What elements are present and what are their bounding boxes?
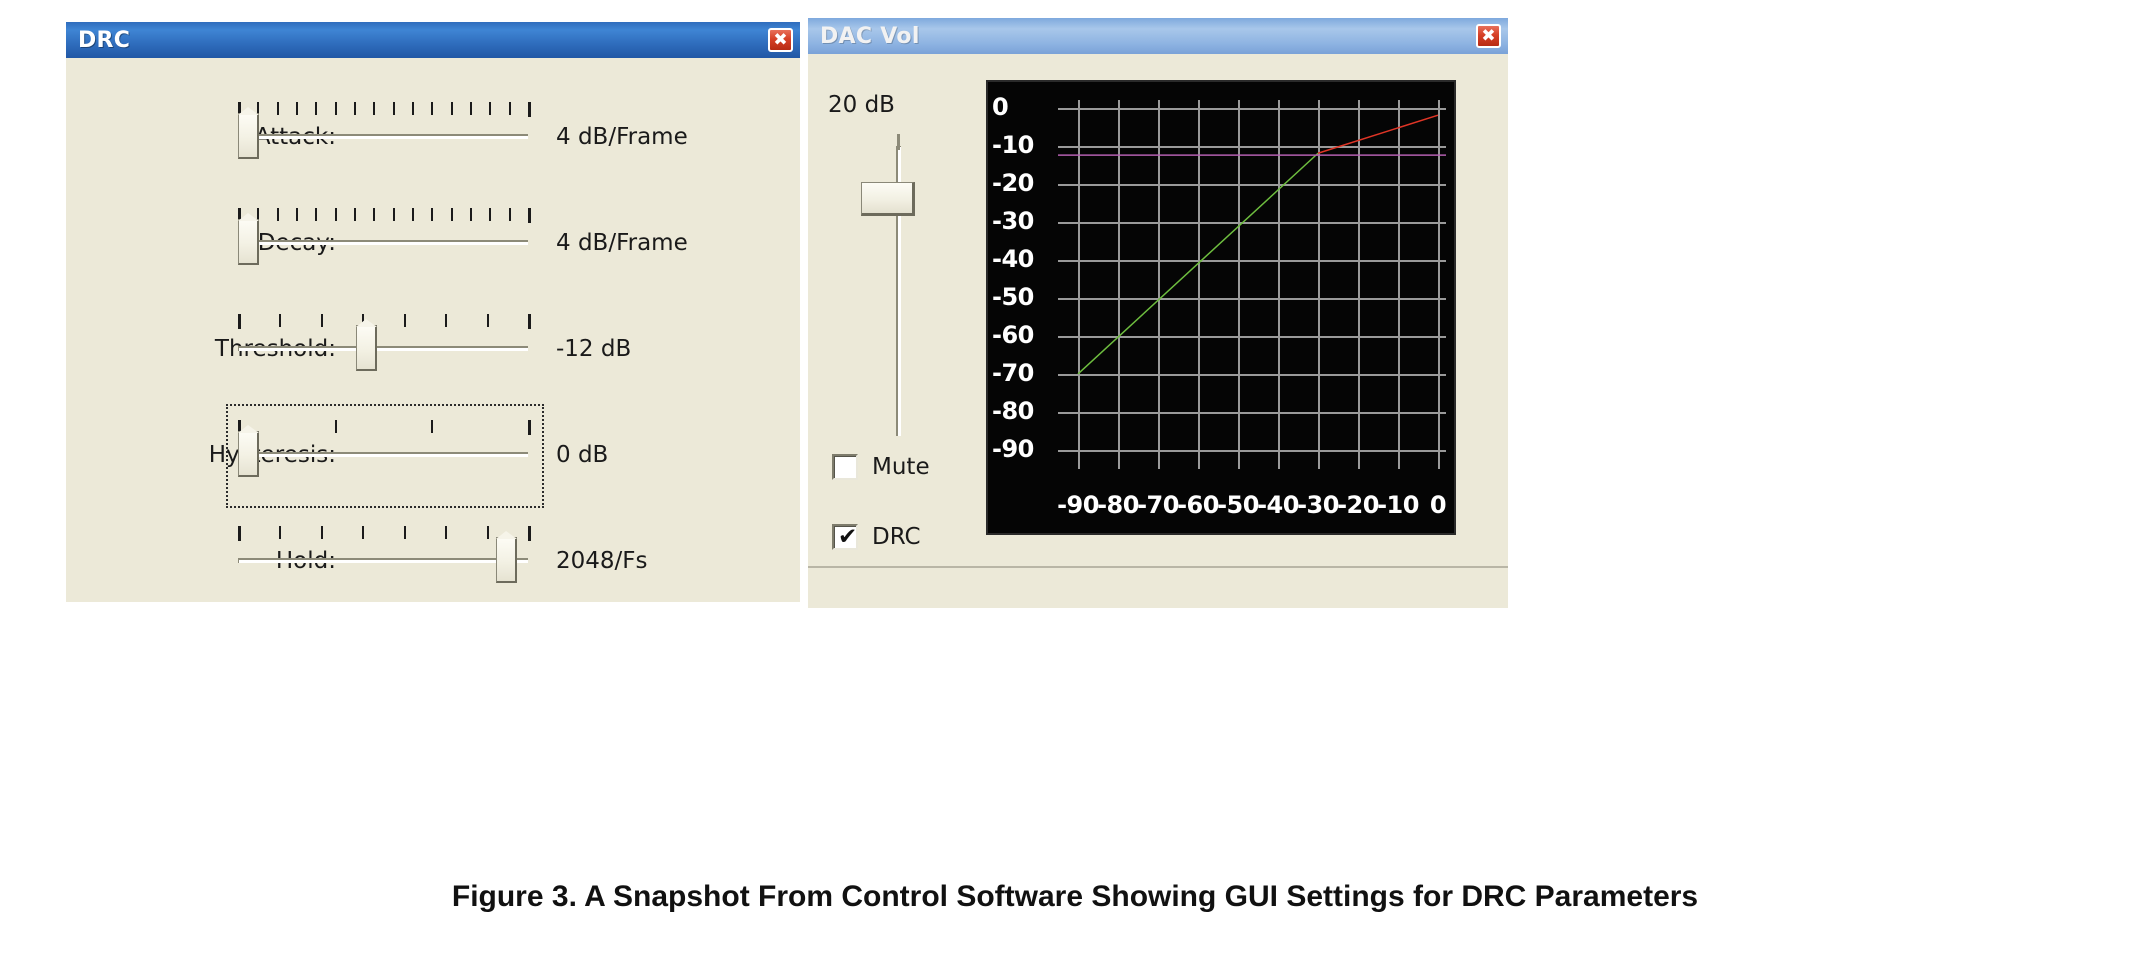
close-icon[interactable]: ✖ [768,28,793,52]
checkbox-box[interactable]: ✔ [832,524,858,550]
slider-thumb[interactable] [238,431,259,477]
checkbox-label: DRC [872,524,921,550]
slider-track[interactable] [238,346,528,351]
checkbox-label: Mute [872,454,930,480]
slider-ticks [238,314,528,327]
slider-thumb[interactable] [496,537,517,583]
y-axis-label: -50 [992,285,1034,309]
checkbox-box[interactable] [832,454,858,480]
close-icon[interactable]: ✖ [1476,24,1501,48]
figure-caption: Figure 3. A Snapshot From Control Softwa… [0,880,2150,914]
slider-ticks [238,208,528,221]
drc-window: DRC ✖ Attack:4 dB/FrameDecay:4 dB/FrameT… [66,22,800,602]
volume-slider-tick [897,134,900,150]
dac-vol-client-area: 20 dB Mute✔DRC 0-10-20-30-40-50-60-70-80… [808,54,1508,608]
y-axis-label: -20 [992,171,1034,195]
dac-vol-window-title: DAC Vol [820,24,920,49]
slider-2[interactable] [238,310,528,394]
plot-area [1058,100,1446,469]
slider-track[interactable] [238,134,528,139]
x-axis-label: -10 [1377,491,1419,519]
x-axis-label: -20 [1337,491,1379,519]
x-axis-label: -90 [1057,491,1099,519]
x-axis-label: -80 [1097,491,1139,519]
slider-0[interactable] [238,98,528,182]
series-below-threshold [1078,153,1318,374]
x-axis-labels: -90-80-70-60-50-40-30-20-100 [1058,491,1446,519]
checkbox-drc[interactable]: ✔DRC [832,524,921,550]
x-axis-label: -30 [1297,491,1339,519]
slider-value: -12 dB [556,336,631,362]
slider-1[interactable] [238,204,528,288]
slider-ticks [238,102,528,115]
slider-3[interactable] [238,416,528,500]
dac-vol-panel: 20 dB Mute✔DRC 0-10-20-30-40-50-60-70-80… [808,54,1508,568]
y-axis-label: 0 [992,95,1008,119]
dac-vol-titlebar[interactable]: DAC Vol ✖ [808,18,1508,54]
y-axis-label: -90 [992,437,1034,461]
slider-4[interactable] [238,522,528,606]
volume-slider-thumb[interactable] [861,182,915,216]
slider-row: Decay:4 dB/Frame [66,204,800,300]
slider-track[interactable] [238,452,528,457]
checkbox-mute[interactable]: Mute [832,454,930,480]
slider-row: Threshold:-12 dB [66,310,800,406]
slider-track[interactable] [238,558,528,563]
x-axis-label: -40 [1257,491,1299,519]
drc-titlebar[interactable]: DRC ✖ [66,22,800,58]
x-axis-label: -70 [1137,491,1179,519]
slider-ticks [238,526,528,539]
x-axis-label: 0 [1430,491,1446,519]
y-axis-label: -40 [992,247,1034,271]
check-icon: ✔ [838,526,857,548]
transfer-curve-graph: 0-10-20-30-40-50-60-70-80-90 -90-80-70-6… [986,80,1456,535]
slider-value: 4 dB/Frame [556,230,688,256]
series-above-threshold [1318,115,1438,153]
slider-row: Attack:4 dB/Frame [66,98,800,194]
slider-value: 4 dB/Frame [556,124,688,150]
volume-slider[interactable] [856,146,942,436]
volume-readout: 20 dB [828,92,895,118]
y-axis-label: -60 [992,323,1034,347]
dac-vol-window: DAC Vol ✖ 20 dB Mute✔DRC 0-10-20-30-40-5… [808,18,1508,608]
slider-thumb[interactable] [238,113,259,159]
slider-value: 0 dB [556,442,608,468]
slider-thumb[interactable] [238,219,259,265]
slider-thumb[interactable] [356,325,377,371]
slider-ticks [238,420,528,433]
x-axis-label: -60 [1177,491,1219,519]
transfer-curve [1058,100,1446,469]
drc-client-area: Attack:4 dB/FrameDecay:4 dB/FrameThresho… [66,58,800,602]
slider-track[interactable] [238,240,528,245]
y-axis-label: -80 [992,399,1034,423]
drc-window-title: DRC [78,28,130,53]
y-axis-label: -10 [992,133,1034,157]
slider-row: Hold:2048/Fs [66,522,800,618]
slider-row: Hysteresis:0 dB [66,416,800,512]
slider-value: 2048/Fs [556,548,648,574]
y-axis-label: -30 [992,209,1034,233]
figure-root: DRC ✖ Attack:4 dB/FrameDecay:4 dB/FrameT… [0,0,2150,976]
y-axis-label: -70 [992,361,1034,385]
x-axis-label: -50 [1217,491,1259,519]
